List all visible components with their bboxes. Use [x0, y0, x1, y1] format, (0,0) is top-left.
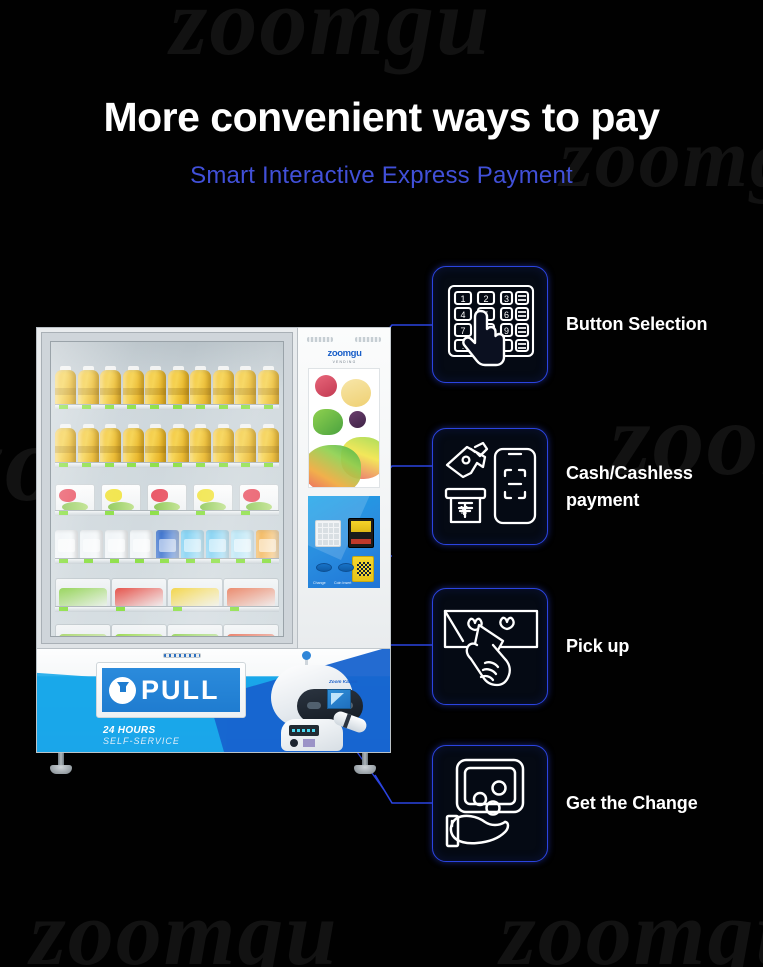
advertising-panel: [308, 368, 380, 488]
shelf-rail: [55, 606, 279, 612]
svg-text:6: 6: [504, 310, 509, 320]
page-title: More convenient ways to pay: [0, 94, 763, 141]
payment-panel[interactable]: Change Coin Insert: [308, 496, 380, 588]
svg-text:7: 7: [460, 326, 465, 336]
glass-door[interactable]: [50, 341, 284, 637]
hand-reaching-pickup-bin-icon: [433, 589, 549, 706]
currency-symbol: ¥: [460, 503, 468, 518]
machine-foot-right: [354, 753, 376, 776]
brand-tagline: VENDING: [298, 360, 391, 364]
watermark-bottom-left: zoomgu: [30, 880, 339, 967]
price-tag: [59, 607, 68, 611]
svg-text:9: 9: [504, 326, 509, 336]
hours-line2: SELF-SERVICE: [103, 736, 180, 746]
shelf-rail: [55, 558, 279, 564]
shelf-rail: [55, 462, 279, 468]
price-tag: [241, 463, 250, 467]
cash-cashless-icon-box[interactable]: ¥: [432, 428, 548, 545]
cabinet-inner-frame: [41, 332, 293, 644]
mascot-caption: Zoom Kaizen: [329, 679, 358, 684]
arrow-down-icon: [109, 677, 136, 704]
robot-chest-square: [303, 739, 315, 747]
robot-chest-display: [289, 725, 319, 736]
price-tag: [173, 607, 182, 611]
feature-label: Button Selection: [566, 311, 707, 337]
price-tag: [116, 607, 125, 611]
price-tag: [84, 559, 93, 563]
pick-up-icon-box[interactable]: [432, 588, 548, 705]
price-tag: [173, 463, 182, 467]
price-tag: [219, 463, 228, 467]
feature-label: Cash/Cashless payment: [566, 460, 693, 512]
price-tag: [150, 463, 159, 467]
ad-fruit-plum: [315, 375, 337, 397]
change-port[interactable]: [316, 563, 332, 572]
shelf-goods: [55, 418, 279, 468]
speaker-grille: [163, 653, 201, 658]
vent-left: [307, 337, 333, 342]
poster-canvas: zoomgu zoomgu zoomgu zoomgu zoomgu zoomg…: [0, 0, 763, 967]
price-tag: [150, 405, 159, 409]
robot-tablet-icon: [327, 689, 351, 709]
machine-service-column: zoomgu VENDING: [298, 327, 391, 649]
pull-label: PULL: [141, 677, 220, 704]
shelf-produce-row-2: [55, 618, 279, 637]
button-selection-icon-box[interactable]: 123 456 79 .: [432, 266, 548, 383]
price-tag: [173, 405, 182, 409]
feature-cash-cashless-payment[interactable]: ¥ Cash/Cashless payment: [432, 428, 693, 545]
price-tag: [264, 463, 273, 467]
feature-get-the-change[interactable]: Get the Change: [432, 745, 698, 862]
price-tag: [82, 463, 91, 467]
watermark-top-center: zoomgu: [170, 0, 491, 77]
shelf-snack-packs: [55, 476, 279, 516]
price-tag: [127, 463, 136, 467]
brand-logo-text: zoomgu: [327, 348, 361, 359]
price-tag: [82, 405, 91, 409]
price-tag: [241, 405, 250, 409]
price-tag: [196, 405, 205, 409]
price-tag: [110, 559, 119, 563]
feature-button-selection[interactable]: 123 456 79 . Button Selection: [432, 266, 707, 383]
robot-body: [281, 719, 343, 751]
shelf-juice-bottles-row-2: [55, 418, 279, 468]
robot-eye-left: [307, 702, 321, 709]
svg-text:1: 1: [460, 294, 465, 304]
cash-bill-and-phone-qr-icon: ¥: [433, 429, 549, 546]
price-tag: [230, 607, 239, 611]
vent-right: [355, 337, 381, 342]
coin-tray-with-hand-icon: [433, 746, 549, 863]
machine-glass-cabinet: [36, 327, 298, 649]
service-hours: 24 HOURS SELF-SERVICE: [103, 725, 180, 746]
price-tag: [105, 511, 114, 515]
change-port-label: Change: [313, 581, 326, 585]
price-tag: [59, 463, 68, 467]
ad-fruit-grape: [349, 411, 366, 428]
vending-machine: zoomgu VENDING: [36, 327, 391, 776]
qr-scanner-icon[interactable]: [352, 556, 374, 582]
svg-text:4: 4: [460, 310, 465, 320]
price-tag: [211, 559, 220, 563]
price-tag: [264, 405, 273, 409]
price-tag: [262, 559, 271, 563]
pickup-door-inner: PULL: [102, 668, 240, 712]
price-tag: [59, 405, 68, 409]
get-the-change-icon-box[interactable]: [432, 745, 548, 862]
price-tag: [105, 405, 114, 409]
price-tag: [150, 511, 159, 515]
product-produce-tray: [223, 624, 279, 637]
feature-label: Get the Change: [566, 790, 698, 816]
price-tag: [196, 463, 205, 467]
price-tag: [105, 463, 114, 467]
pickup-door[interactable]: PULL: [96, 662, 246, 718]
coin-insert-port[interactable]: [338, 563, 354, 572]
svg-text:3: 3: [504, 294, 509, 304]
card-reader-icon[interactable]: [348, 518, 374, 548]
coin-insert-label: Coin Insert: [334, 581, 351, 585]
ad-fruit-melon: [313, 409, 343, 435]
feature-label: Pick up: [566, 633, 629, 659]
ad-fruit-banana: [341, 379, 371, 407]
shelf-produce-row-1: [55, 570, 279, 612]
price-tag: [135, 559, 144, 563]
mascot-robot: Zoom Kaizen: [255, 653, 373, 749]
ad-salad-lower: [308, 445, 361, 488]
shelf-goods: [55, 618, 279, 637]
price-tag: [241, 511, 250, 515]
brand-logo: zoomgu VENDING: [298, 348, 391, 364]
shelf-goods: [55, 360, 279, 410]
svg-text:2: 2: [483, 294, 488, 304]
price-tag: [59, 511, 68, 515]
price-tag: [196, 511, 205, 515]
watermark-bottom-right: zoomgu: [500, 880, 763, 967]
robot-chest-dot: [290, 739, 298, 747]
keypad-icon[interactable]: [315, 520, 341, 547]
keypad-with-pointing-hand-icon: 123 456 79 .: [433, 267, 549, 384]
shelf-drinks-cans: [55, 522, 279, 564]
product-produce-tray: [55, 624, 111, 637]
shelf-rail: [55, 404, 279, 410]
price-tag: [59, 559, 68, 563]
price-tag: [219, 405, 228, 409]
feature-pick-up[interactable]: Pick up: [432, 588, 629, 705]
product-produce-tray: [111, 624, 167, 637]
shelf-rail: [55, 510, 279, 516]
price-tag: [160, 559, 169, 563]
price-tag: [236, 559, 245, 563]
machine-base-panel: PULL 24 HOURS SELF-SERVICE: [36, 649, 391, 753]
product-produce-tray: [167, 624, 223, 637]
price-tag: [127, 405, 136, 409]
machine-foot-left: [50, 753, 72, 776]
hours-line1: 24 HOURS: [103, 725, 155, 736]
page-subtitle: Smart Interactive Express Payment: [0, 162, 763, 190]
price-tag: [186, 559, 195, 563]
shelf-juice-bottles-row-1: [55, 360, 279, 410]
